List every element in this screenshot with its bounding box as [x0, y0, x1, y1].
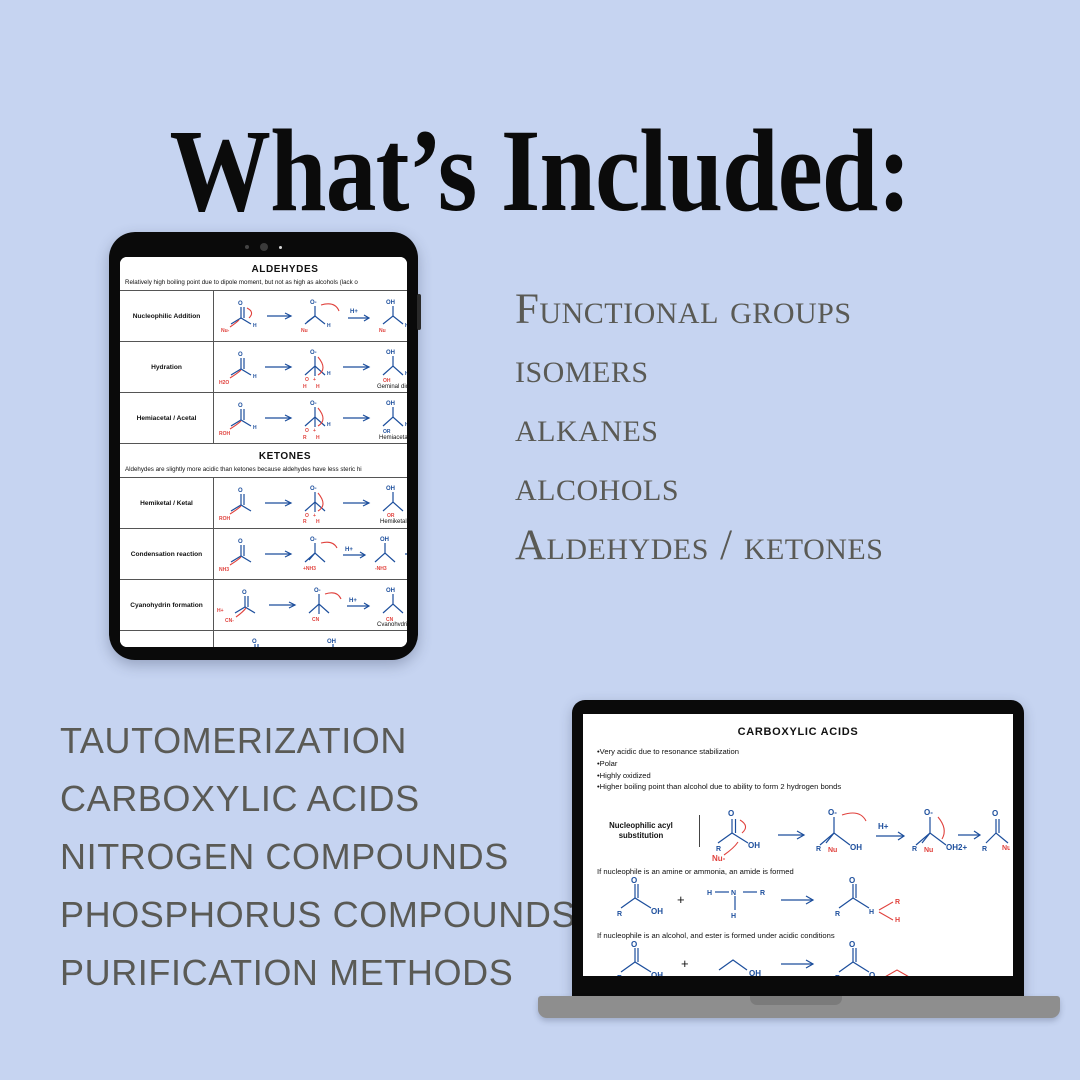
- svg-text:H: H: [327, 422, 331, 428]
- svg-text:OH2+: OH2+: [946, 843, 967, 852]
- topic-item: Functional groups: [515, 281, 883, 340]
- hemiketal-label: Hemiketal: [380, 519, 407, 524]
- svg-text:OH: OH: [386, 300, 395, 306]
- topic-list-left: TAUTOMERIZATION CARBOXYLIC ACIDS NITROGE…: [60, 712, 576, 1002]
- svg-text:O-: O-: [310, 401, 317, 407]
- topic-item: NITROGEN COMPOUNDS: [60, 828, 576, 886]
- row-label: Cyanohydrin formation: [120, 580, 214, 631]
- laptop-device: CARBOXYLIC ACIDS Very acidic due to reso…: [512, 700, 1080, 1030]
- row-label: Condensation reaction: [120, 529, 214, 580]
- table-row: Alcohol formation O LiAlH4 NaBH4: [120, 631, 407, 648]
- table-row: Hydration O H H2O O- H O: [120, 342, 407, 393]
- svg-text:CN-: CN-: [225, 618, 234, 624]
- svg-text:N: N: [731, 890, 736, 897]
- laptop-screen: CARBOXYLIC ACIDS Very acidic due to reso…: [583, 714, 1013, 976]
- geminal-diol-label: Geminal diol: [377, 384, 407, 389]
- carboxylic-acids-study-sheet: CARBOXYLIC ACIDS Very acidic due to reso…: [583, 714, 1013, 976]
- row-label: Alcohol formation: [120, 631, 214, 648]
- svg-text:H: H: [405, 371, 407, 377]
- svg-text:OH: OH: [386, 401, 395, 407]
- svg-text:H: H: [405, 323, 407, 329]
- carboxylic-acids-heading: CARBOXYLIC ACIDS: [583, 726, 1013, 738]
- list-item: Higher boiling point than alcohol due to…: [597, 781, 1013, 793]
- page-title: What’s Included:: [76, 112, 1005, 230]
- camera-dot-small-icon: [245, 245, 249, 249]
- topic-item: TAUTOMERIZATION: [60, 712, 576, 770]
- svg-text:-NH3: -NH3: [375, 566, 387, 572]
- svg-text:O: O: [728, 809, 734, 818]
- hemiketal-ketal-scheme-icon: O ROH O- O + R H: [217, 482, 407, 524]
- row-scheme: O H+ CN- O- CN H+ OH: [214, 580, 408, 631]
- svg-text:H+: H+: [878, 822, 889, 831]
- nucleophilic-addition-scheme-icon: O H Nu- O- H Nu: [217, 294, 407, 338]
- svg-text:OH: OH: [748, 841, 760, 850]
- svg-text:OH: OH: [386, 350, 395, 356]
- svg-text:O-: O-: [310, 486, 317, 492]
- row-scheme: O H ROH O- H O + R H: [214, 393, 408, 444]
- svg-text:+NH3: +NH3: [303, 566, 316, 572]
- svg-text:OH: OH: [651, 971, 663, 976]
- svg-text:O: O: [238, 539, 243, 545]
- svg-text:R: R: [835, 911, 840, 918]
- svg-text:H: H: [895, 917, 900, 922]
- svg-text:NH3: NH3: [219, 567, 229, 573]
- hemiacetal-label: Hemiacetal: [379, 435, 407, 440]
- camera-lens-icon: [260, 243, 268, 251]
- aldehydes-ketones-study-sheet: ALDEHYDES Relatively high boiling point …: [120, 257, 407, 647]
- svg-text:H+: H+: [349, 598, 357, 604]
- svg-text:O: O: [252, 639, 257, 645]
- nucleophilic-acyl-substitution-row: Nucleophilic acyl substitution O R OH Nu…: [583, 799, 1013, 863]
- svg-text:OH: OH: [327, 639, 336, 645]
- topic-item: alcohols: [515, 458, 883, 517]
- svg-text:O-: O-: [310, 350, 317, 356]
- list-item: Very acidic due to resonance stabilizati…: [597, 746, 1013, 758]
- table-row: Hemiacetal / Acetal O H ROH O- H: [120, 393, 407, 444]
- svg-text:R: R: [895, 899, 900, 906]
- svg-text:H+: H+: [345, 547, 353, 553]
- svg-text:H: H: [316, 384, 320, 389]
- svg-text:R: R: [982, 846, 987, 853]
- svg-text:O-: O-: [924, 808, 933, 817]
- svg-text:H2O: H2O: [219, 380, 229, 386]
- svg-text:Nu-: Nu-: [221, 328, 230, 334]
- tablet-screen: ALDEHYDES Relatively high boiling point …: [120, 257, 407, 647]
- svg-text:H: H: [707, 890, 712, 897]
- acyl-substitution-scheme-icon: O R OH Nu- O- R Nu OH: [700, 799, 1010, 863]
- svg-text:R: R: [912, 846, 917, 853]
- row-label: Hydration: [120, 342, 214, 393]
- table-row: Hemiketal / Ketal O ROH O- O + R: [120, 478, 407, 529]
- row-label: Hemiketal / Ketal: [120, 478, 214, 529]
- svg-text:+: +: [677, 892, 685, 907]
- topic-item: alkanes: [515, 399, 883, 458]
- svg-text:R: R: [303, 519, 307, 524]
- svg-text:H: H: [253, 323, 257, 329]
- hemiacetal-acetal-scheme-icon: O H ROH O- H O + R H: [217, 396, 407, 440]
- aldehydes-note: Relatively high boiling point due to dip…: [120, 279, 407, 286]
- svg-text:O: O: [238, 403, 243, 409]
- svg-text:R: R: [835, 975, 840, 976]
- topic-item: Aldehydes / ketones: [515, 517, 883, 576]
- svg-text:H: H: [327, 371, 331, 377]
- svg-text:O: O: [631, 876, 637, 885]
- svg-text:O: O: [631, 940, 637, 949]
- svg-text:Nu-: Nu-: [712, 854, 726, 863]
- cyanohydrin-label: Cyanohydrin: [377, 622, 407, 626]
- list-item: Highly oxidized: [597, 770, 1013, 782]
- svg-text:Nu: Nu: [301, 328, 308, 334]
- svg-text:O: O: [849, 940, 855, 949]
- svg-text:+: +: [681, 956, 689, 971]
- aldehydes-heading: ALDEHYDES: [120, 264, 407, 275]
- svg-text:OH: OH: [749, 969, 761, 976]
- row-scheme: O H H2O O- H O + H H: [214, 342, 408, 393]
- topic-list-right: Functional groups isomers alkanes alcoho…: [515, 281, 883, 576]
- svg-text:O: O: [238, 301, 243, 307]
- tablet-device: ALDEHYDES Relatively high boiling point …: [109, 232, 418, 660]
- svg-text:O-: O-: [310, 537, 317, 543]
- amide-caption: If nucleophile is an amine or ammonia, a…: [597, 867, 1013, 876]
- svg-text:CN: CN: [312, 617, 320, 623]
- svg-text:Nu: Nu: [379, 328, 386, 334]
- ester-caption: If nucleophile is an alcohol, and ester …: [597, 931, 1013, 940]
- svg-text:O-: O-: [310, 300, 317, 306]
- svg-text:R: R: [303, 435, 307, 440]
- svg-text:OH: OH: [380, 537, 389, 543]
- hydration-scheme-icon: O H H2O O- H O + H H: [217, 345, 407, 389]
- sensor-dot-icon: [279, 246, 282, 249]
- svg-text:H: H: [253, 374, 257, 380]
- svg-text:ROH: ROH: [219, 431, 231, 437]
- svg-text:O: O: [869, 971, 875, 976]
- topic-item: PHOSPHORUS COMPOUNDS: [60, 886, 576, 944]
- svg-text:H: H: [405, 422, 407, 428]
- svg-text:H: H: [303, 384, 307, 389]
- list-item: Polar: [597, 758, 1013, 770]
- svg-text:+: +: [313, 377, 316, 383]
- table-row: Condensation reaction O NH3 O- +NH3: [120, 529, 407, 580]
- svg-text:H: H: [316, 435, 320, 440]
- svg-text:O-: O-: [314, 588, 321, 594]
- svg-text:O: O: [305, 377, 309, 383]
- tablet-camera-row: [109, 241, 418, 253]
- svg-text:ROH: ROH: [219, 516, 231, 522]
- svg-text:H: H: [327, 323, 331, 329]
- svg-text:H: H: [869, 909, 874, 916]
- svg-text:Nu: Nu: [924, 847, 933, 854]
- row-label: Nucleophilic Addition: [120, 291, 214, 342]
- cyanohydrin-formation-scheme-icon: O H+ CN- O- CN H+ OH: [217, 584, 407, 626]
- ester-formation-scheme-icon: O R OH + OH O R O: [603, 940, 1003, 976]
- row-scheme: O H Nu- O- H Nu: [214, 291, 408, 342]
- topic-item: CARBOXYLIC ACIDS: [60, 770, 576, 828]
- topic-item: PURIFICATION METHODS: [60, 944, 576, 1002]
- svg-text:O: O: [238, 488, 243, 494]
- condensation-reaction-scheme-icon: O NH3 O- +NH3 H+ OH -NH3: [217, 533, 407, 575]
- svg-text:R: R: [816, 846, 821, 853]
- svg-text:H: H: [731, 913, 736, 920]
- svg-text:OH: OH: [386, 486, 395, 492]
- svg-text:O: O: [849, 876, 855, 885]
- carboxylic-acids-bullets: Very acidic due to resonance stabilizati…: [597, 746, 1013, 793]
- svg-text:O: O: [992, 809, 998, 818]
- svg-text:+: +: [313, 428, 316, 434]
- reaction-label: Nucleophilic acyl substitution: [583, 815, 700, 847]
- row-label: Hemiacetal / Acetal: [120, 393, 214, 444]
- svg-text:O: O: [238, 352, 243, 358]
- amide-formation-scheme-icon: O R OH + H N R H O R H R H: [603, 876, 1003, 922]
- row-scheme: O ROH O- O + R H: [214, 478, 408, 529]
- svg-text:Nu: Nu: [1002, 845, 1010, 852]
- table-row: Nucleophilic Addition O H Nu-: [120, 291, 407, 342]
- svg-text:OH: OH: [651, 907, 663, 916]
- svg-text:OH: OH: [386, 588, 395, 594]
- ketones-reaction-table: Hemiketal / Ketal O ROH O- O + R: [120, 477, 407, 647]
- svg-text:H+: H+: [217, 608, 224, 614]
- svg-text:O: O: [242, 590, 247, 596]
- svg-text:O-: O-: [828, 808, 837, 817]
- ketones-note: Aldehydes are slightly more acidic than …: [120, 466, 407, 473]
- ketones-heading: KETONES: [120, 451, 407, 462]
- row-scheme: O NH3 O- +NH3 H+ OH -NH3: [214, 529, 408, 580]
- topic-item: isomers: [515, 340, 883, 399]
- alcohol-formation-scheme-icon: O LiAlH4 NaBH4 OH: [217, 636, 407, 647]
- svg-text:Nu: Nu: [828, 847, 837, 854]
- svg-text:R: R: [617, 911, 622, 918]
- svg-text:O: O: [305, 428, 309, 434]
- svg-text:OH: OH: [850, 843, 862, 852]
- aldehydes-reaction-table: Nucleophilic Addition O H Nu-: [120, 290, 407, 444]
- row-scheme: O LiAlH4 NaBH4 OH: [214, 631, 408, 648]
- laptop-trackpad-notch: [750, 996, 842, 1005]
- svg-text:R: R: [760, 890, 765, 897]
- svg-text:H: H: [253, 425, 257, 431]
- tablet-side-button[interactable]: [417, 294, 421, 330]
- svg-text:R: R: [617, 975, 622, 976]
- svg-text:H: H: [316, 519, 320, 524]
- svg-text:R: R: [716, 846, 721, 853]
- laptop-lid: CARBOXYLIC ACIDS Very acidic due to reso…: [572, 700, 1024, 1000]
- svg-text:H+: H+: [350, 309, 358, 315]
- table-row: Cyanohydrin formation O H+ CN- O- CN: [120, 580, 407, 631]
